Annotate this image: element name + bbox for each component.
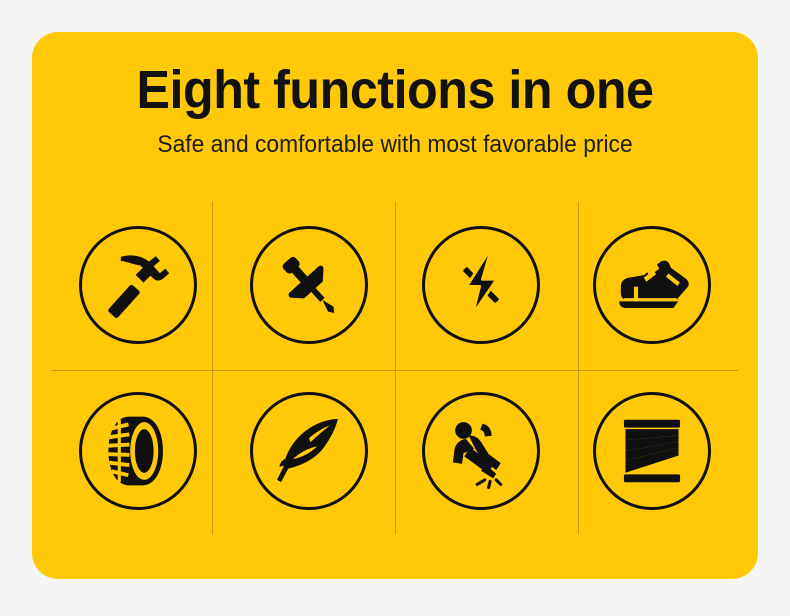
feature-badge-2 [250,226,368,344]
spring-coil-icon [613,412,691,490]
feature-badge-6 [250,392,368,510]
feature-badge-8 [593,392,711,510]
feature-cell-2 [224,202,396,368]
feature-card: Eight functions in one Safe and comforta… [32,32,758,579]
page-title: Eight functions in one [57,32,732,119]
feature-badge-5 [79,392,197,510]
feature-cell-1 [52,202,224,368]
feature-badge-7 [422,392,540,510]
feature-cell-7 [395,368,567,534]
feature-cell-5 [52,368,224,534]
feature-badge-3 [422,226,540,344]
slipping-person-icon [443,413,519,489]
tire-icon [99,412,177,490]
page-subtitle: Safe and comfortable with most favorable… [50,119,740,159]
feather-icon [269,411,349,491]
feature-cell-4 [567,202,739,368]
lightning-slash-icon [445,249,517,321]
feature-cell-6 [224,368,396,534]
feature-icon-grid [52,202,738,534]
push-pin-icon [272,248,346,322]
feature-cell-3 [395,202,567,368]
card-header: Eight functions in one Safe and comforta… [32,32,758,158]
feature-badge-1 [79,226,197,344]
infographic-root: Eight functions in one Safe and comforta… [0,0,790,616]
feature-badge-4 [593,226,711,344]
safety-shoe-icon [611,244,693,326]
hammer-icon [99,246,177,324]
feature-cell-8 [567,368,739,534]
